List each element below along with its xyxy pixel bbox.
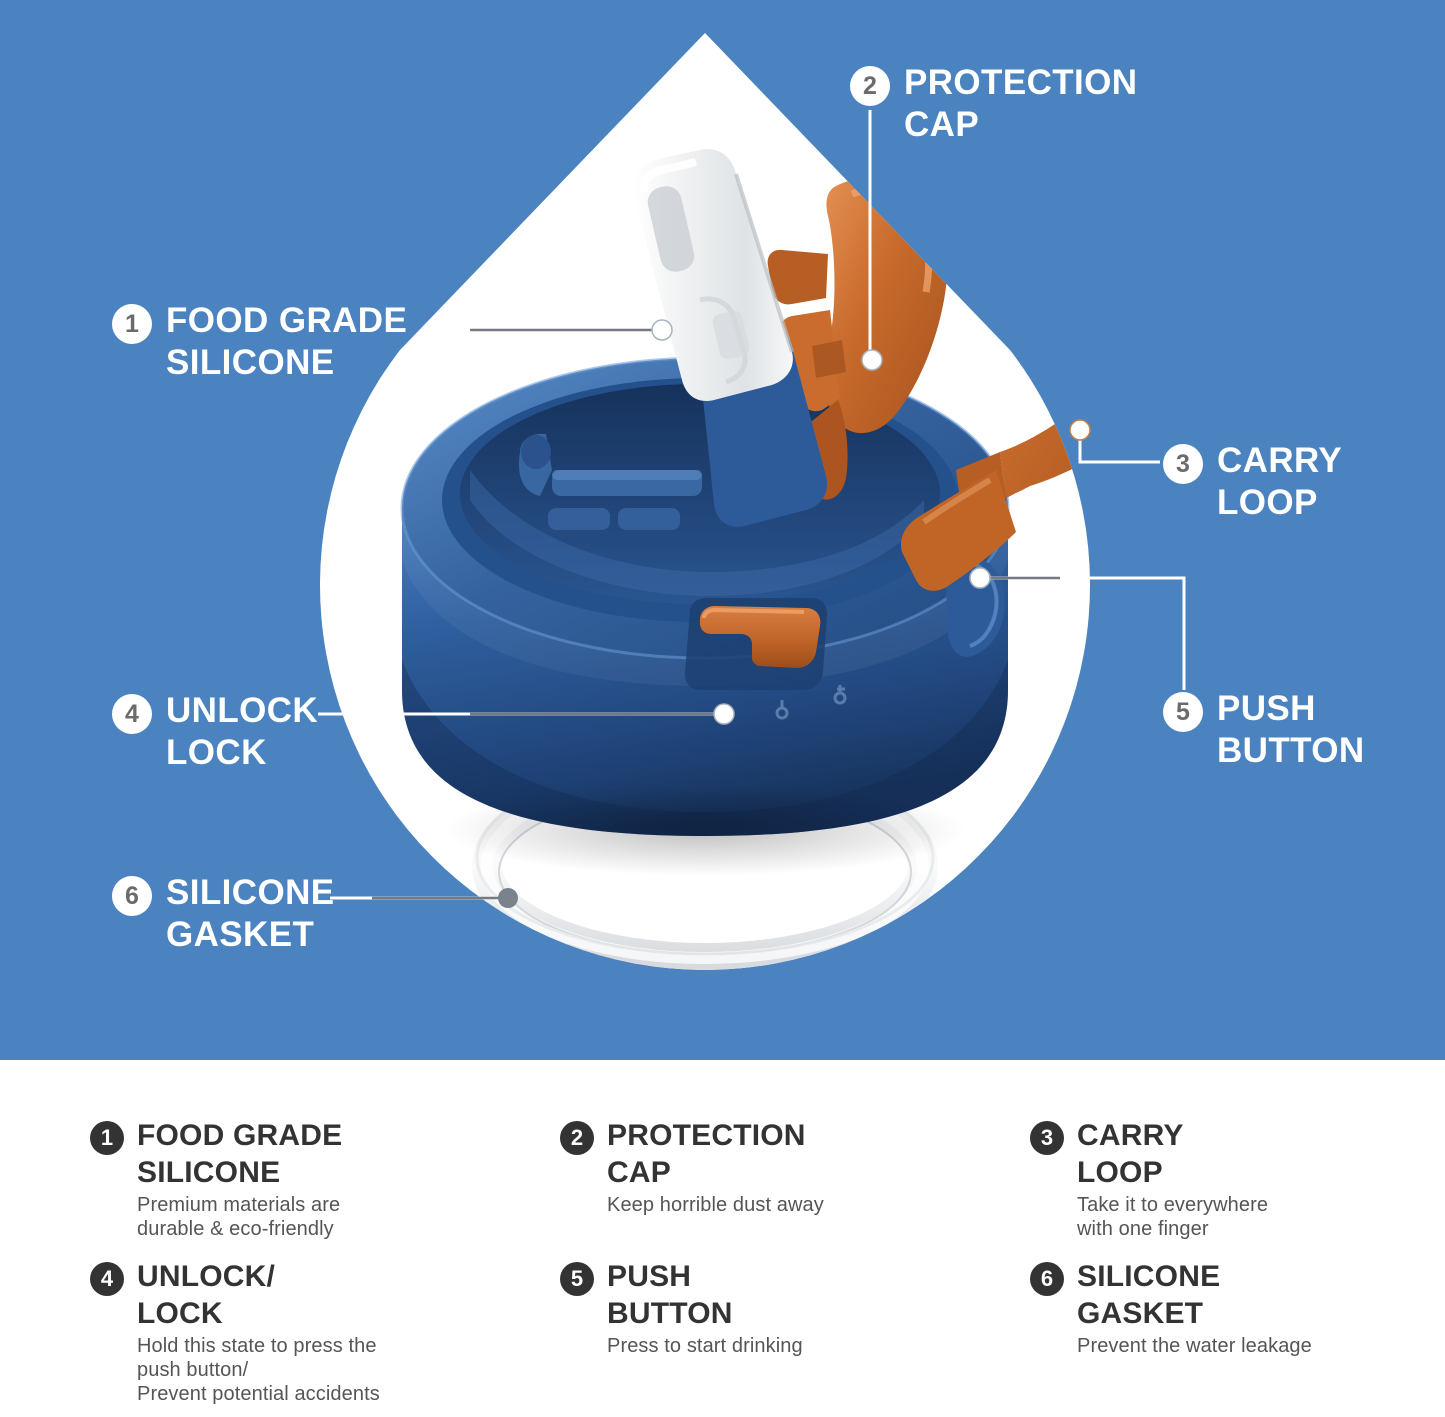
callout-badge-3: 3 — [1163, 444, 1203, 484]
callout-label-2: PROTECTION CAP — [904, 62, 1137, 146]
feature-desc-6: Prevent the water leakage — [1077, 1334, 1312, 1358]
feature-badge-4: 4 — [90, 1262, 124, 1296]
callout-food-grade-silicone: 1 FOOD GRADE SILICONE — [112, 300, 407, 384]
callout-badge-6: 6 — [112, 876, 152, 916]
feature-badge-5: 5 — [560, 1262, 594, 1296]
lid-body — [402, 358, 1008, 836]
callout-label-6: SILICONE GASKET — [166, 872, 335, 956]
callout-protection-cap: 2 PROTECTION CAP — [850, 62, 1137, 146]
feature-title-1: FOOD GRADE SILICONE — [137, 1118, 342, 1191]
feature-desc-4: Hold this state to press the push button… — [137, 1334, 380, 1406]
feature-badge-6: 6 — [1030, 1262, 1064, 1296]
feature-badge-3: 3 — [1030, 1121, 1064, 1155]
callout-label-5: PUSH BUTTON — [1217, 688, 1365, 772]
leader-line-3 — [1080, 432, 1160, 462]
leader-dot-1 — [652, 320, 672, 340]
leader-dot-2 — [862, 350, 882, 370]
leader-dot-4 — [714, 704, 734, 724]
callout-silicone-gasket: 6 SILICONE GASKET — [112, 872, 335, 956]
feature-title-3: CARRY LOOP — [1077, 1118, 1268, 1191]
feature-title-4: UNLOCK/ LOCK — [137, 1259, 380, 1332]
hero-section: 1 FOOD GRADE SILICONE 2 PROTECTION CAP 3… — [0, 0, 1445, 1060]
feature-title-5: PUSH BUTTON — [607, 1259, 803, 1332]
feature-item-protection-cap: 2 PROTECTION CAP Keep horrible dust away — [560, 1118, 1030, 1241]
feature-desc-5: Press to start drinking — [607, 1334, 803, 1358]
leader-dot-6 — [498, 888, 518, 908]
details-panel: 1 FOOD GRADE SILICONE Premium materials … — [0, 1060, 1445, 1417]
callout-push-button: 5 PUSH BUTTON — [1163, 688, 1365, 772]
feature-item-unlock-lock: 4 UNLOCK/ LOCK Hold this state to press … — [90, 1259, 560, 1406]
leader-dot-5 — [970, 568, 990, 588]
feature-desc-2: Keep horrible dust away — [607, 1193, 824, 1217]
feature-title-2: PROTECTION CAP — [607, 1118, 824, 1191]
feature-item-food-grade-silicone: 1 FOOD GRADE SILICONE Premium materials … — [90, 1118, 560, 1241]
feature-item-carry-loop: 3 CARRY LOOP Take it to everywhere with … — [1030, 1118, 1400, 1241]
callout-label-1: FOOD GRADE SILICONE — [166, 300, 407, 384]
callout-label-3: CARRY LOOP — [1217, 440, 1342, 524]
callout-unlock-lock: 4 UNLOCK LOCK — [112, 690, 318, 774]
feature-badge-2: 2 — [560, 1121, 594, 1155]
feature-badge-1: 1 — [90, 1121, 124, 1155]
feature-grid: 1 FOOD GRADE SILICONE Premium materials … — [90, 1118, 1400, 1406]
callout-badge-2: 2 — [850, 66, 890, 106]
feature-title-6: SILICONE GASKET — [1077, 1259, 1312, 1332]
callout-badge-1: 1 — [112, 304, 152, 344]
callout-badge-5: 5 — [1163, 692, 1203, 732]
feature-item-silicone-gasket: 6 SILICONE GASKET Prevent the water leak… — [1030, 1259, 1400, 1406]
feature-item-push-button: 5 PUSH BUTTON Press to start drinking — [560, 1259, 1030, 1406]
feature-desc-3: Take it to everywhere with one finger — [1077, 1193, 1268, 1241]
leader-dot-3 — [1070, 420, 1090, 440]
feature-desc-1: Premium materials are durable & eco-frie… — [137, 1193, 342, 1241]
callout-badge-4: 4 — [112, 694, 152, 734]
callout-label-4: UNLOCK LOCK — [166, 690, 318, 774]
callout-carry-loop: 3 CARRY LOOP — [1163, 440, 1342, 524]
